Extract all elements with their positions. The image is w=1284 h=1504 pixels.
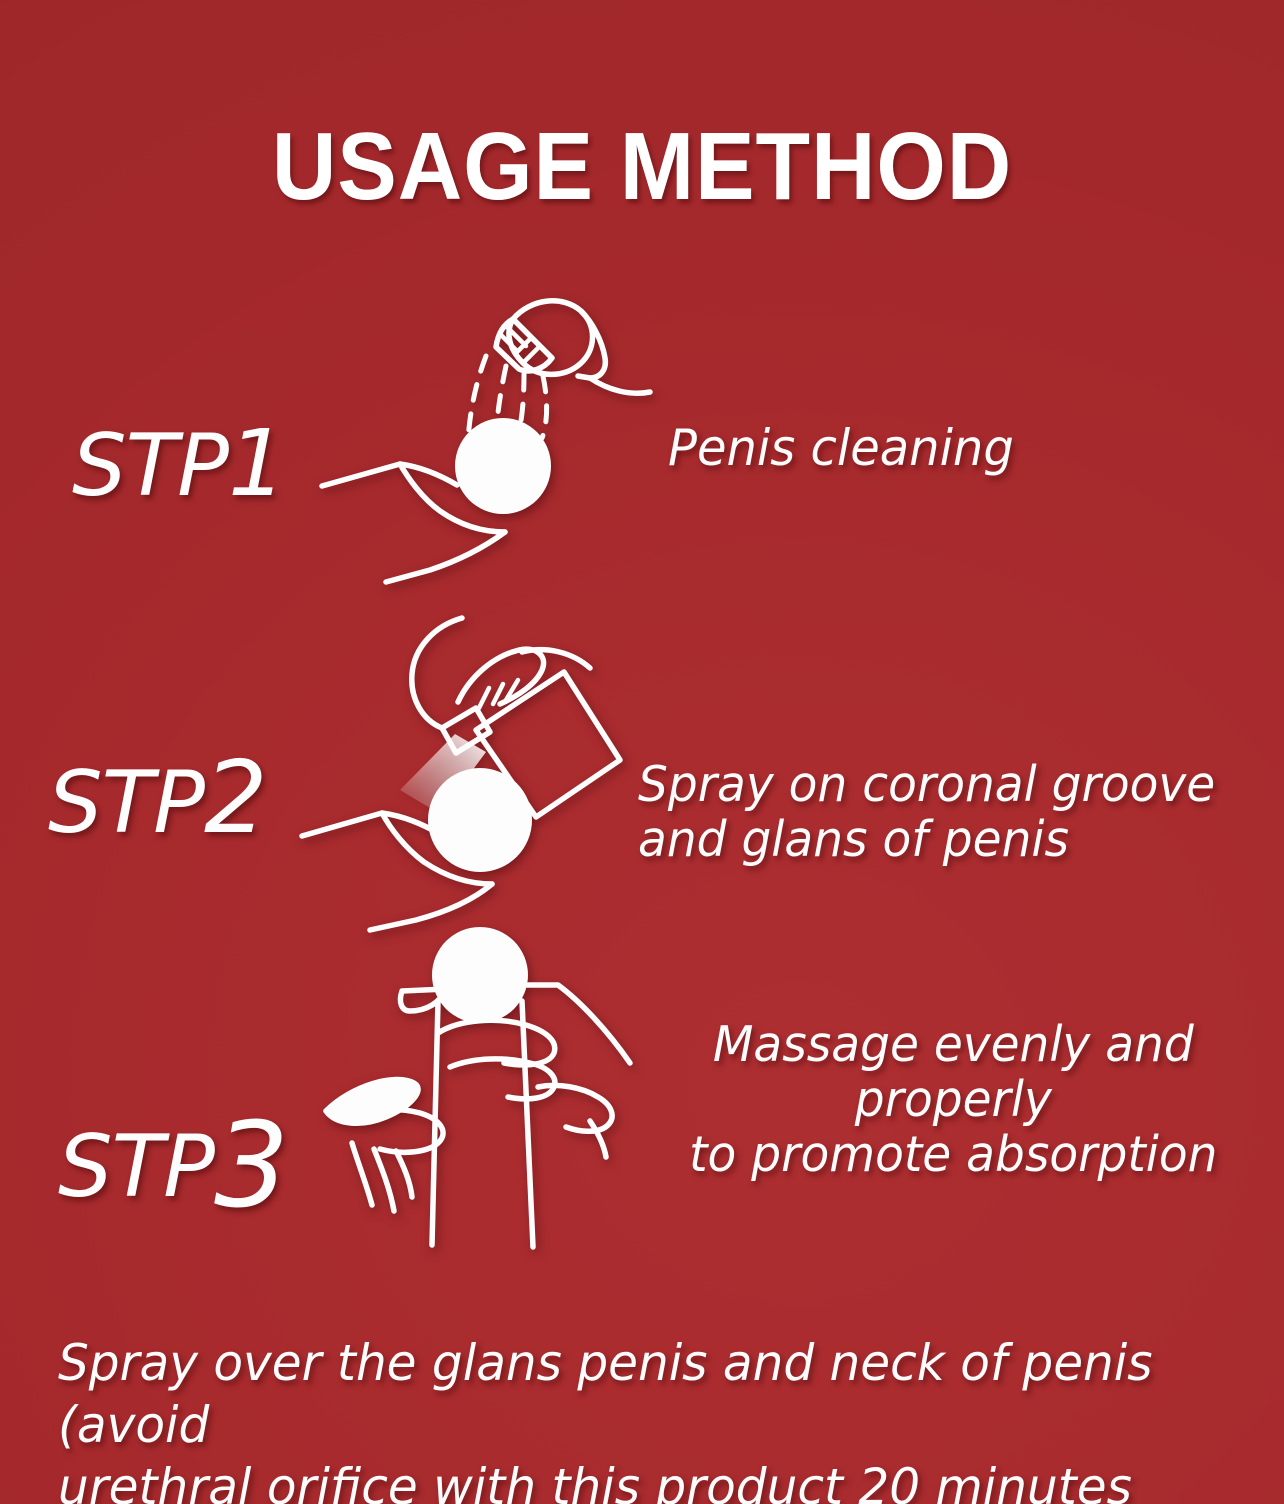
step-2-label: STP2 <box>48 748 268 848</box>
step-2-illustration <box>290 612 670 922</box>
step-3-description: Massage evenly and properly to promote a… <box>648 1018 1259 1183</box>
step-3-label-number: 3 <box>214 1096 289 1234</box>
step-3-label-word: STP <box>58 1117 214 1217</box>
shower-head-rinsing-icon <box>300 270 700 590</box>
step-3-illustration <box>290 915 690 1255</box>
spray-bottle-hand-icon <box>290 612 670 922</box>
usage-method-poster: USAGE METHOD STP1 <box>0 0 1284 1504</box>
step-3-label: STP3 <box>58 1096 289 1214</box>
glans-shape <box>455 418 551 514</box>
step-2-description: Spray on coronal groove and glans of pen… <box>638 758 1215 868</box>
page-title: USAGE METHOD <box>45 112 1239 222</box>
step-1-label: STP1 <box>72 418 287 510</box>
step-2-label-number: 2 <box>204 739 268 856</box>
step-1-label-number: 1 <box>228 410 287 517</box>
glans-shape <box>432 927 528 1023</box>
step-2-label-word: STP <box>48 753 204 853</box>
step-1-label-word: STP <box>72 416 228 516</box>
footnote-paragraph: Spray over the glans penis and neck of p… <box>58 1332 1203 1504</box>
two-hands-massage-icon <box>290 915 690 1255</box>
glans-shape <box>428 768 532 872</box>
step-1-illustration <box>300 270 700 590</box>
step-1-description: Penis cleaning <box>668 420 1014 476</box>
